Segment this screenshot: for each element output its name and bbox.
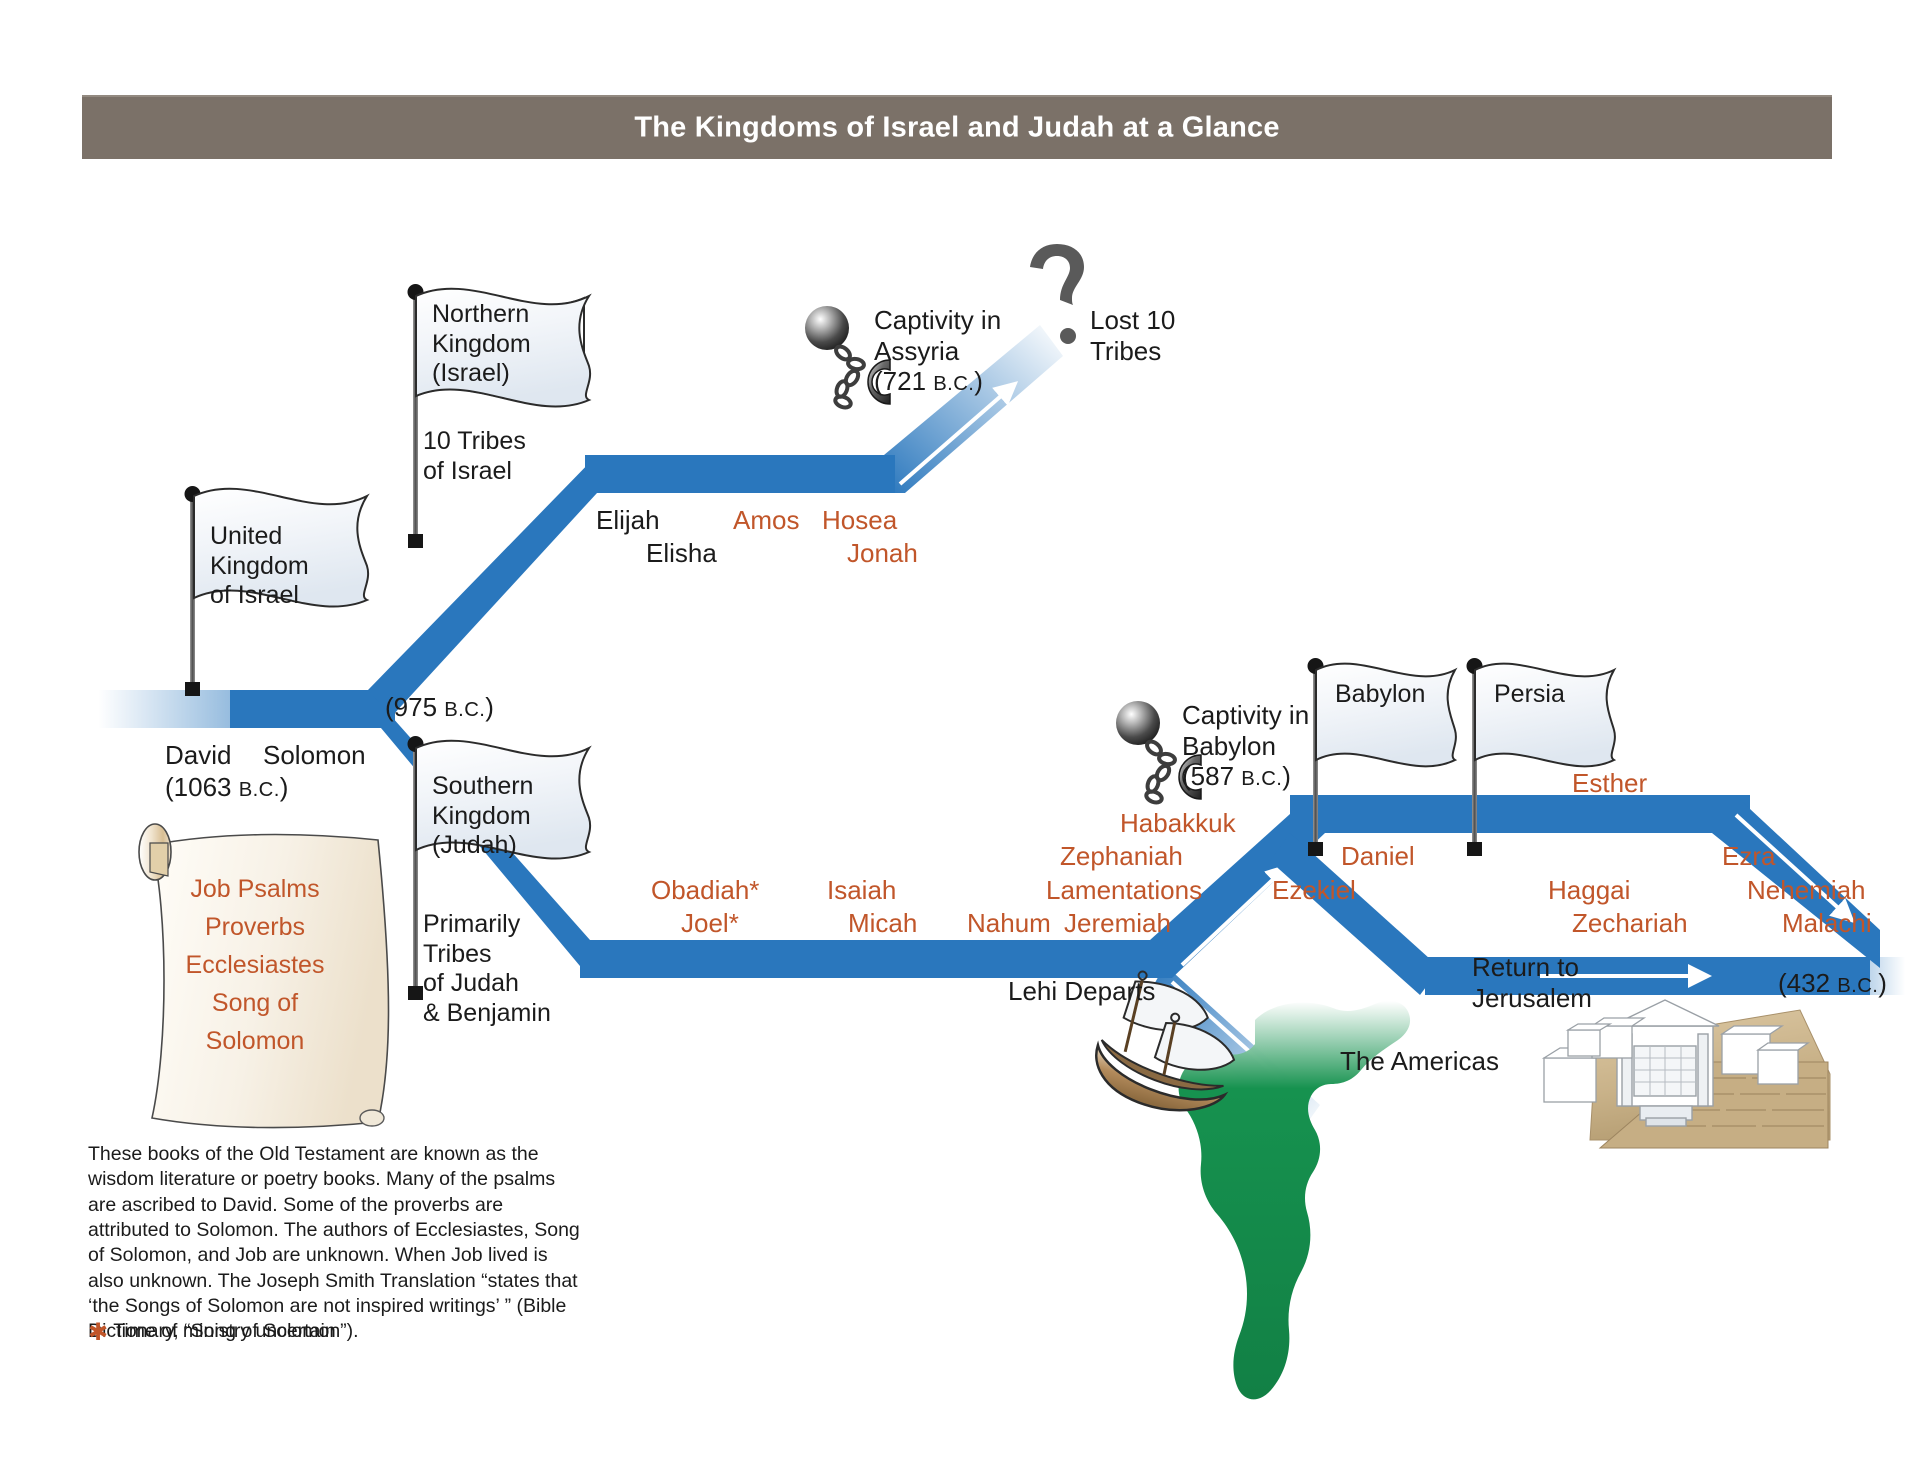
chain-link [1158, 753, 1175, 766]
king-solomon-label: Solomon [263, 740, 366, 771]
prophet-jonah: Jonah [847, 538, 918, 569]
prophet-zechariah: Zechariah [1572, 908, 1688, 939]
prophet-haggai: Haggai [1548, 875, 1630, 906]
pole-base-persia [1467, 842, 1482, 856]
prophet-hosea: Hosea [822, 505, 897, 536]
prophet-amos: Amos [733, 505, 799, 536]
flag-label-babylon: Babylon [1335, 680, 1425, 710]
prophet-lamentations: Lamentations [1046, 875, 1202, 906]
wisdom-note-paragraph: These books of the Old Testament are kno… [88, 1142, 588, 1345]
the-americas-label: The Americas [1340, 1046, 1499, 1077]
prophet-ezekiel: Ezekiel [1272, 875, 1356, 906]
flag-label-persia: Persia [1494, 680, 1565, 710]
prophet-joel: Joel* [681, 908, 739, 939]
infographic-root: The Kingdoms of Israel and Judah at a Gl… [0, 0, 1920, 1484]
wisdom-books-list: Job Psalms Proverbs Ecclesiastes Song of… [165, 870, 345, 1060]
band-north-diagonal [368, 455, 597, 728]
pole-base-united [185, 682, 200, 696]
split-date-label: (975 B.C.) [385, 692, 494, 723]
chain-link [834, 395, 852, 410]
flag-label-united: United Kingdom of Israel [210, 522, 309, 611]
captivity-babylon-label: Captivity in Babylon (587 B.C.) [1182, 700, 1309, 792]
end-date-label: (432 B.C.) [1778, 968, 1887, 999]
prophet-elijah: Elijah [596, 505, 660, 536]
prophet-nahum: Nahum [967, 908, 1051, 939]
prophet-daniel: Daniel [1341, 841, 1415, 872]
flag-label-southern: Southern Kingdom (Judah) [432, 772, 533, 861]
prophet-esther: Esther [1572, 768, 1647, 799]
prophet-zephaniah: Zephaniah [1060, 841, 1183, 872]
asterisk-note: ✱ Time of ministry uncertain [88, 1320, 336, 1343]
prophet-ezra: Ezra [1722, 841, 1775, 872]
pole-base-southern [408, 986, 423, 1000]
king-david-label: David [165, 740, 231, 771]
band-north-horizontal [585, 455, 895, 493]
band-united-kingdom-solid [230, 690, 370, 728]
lost-tribes-label: Lost 10 Tribes [1090, 305, 1175, 366]
flag-label-northern: Northern Kingdom (Israel) [432, 300, 531, 389]
asterisk-note-text: Time of ministry uncertain [113, 1320, 336, 1342]
prophet-nehemiah: Nehemiah [1747, 875, 1866, 906]
northern-tribes-label: 10 Tribes of Israel [423, 427, 526, 486]
scroll-roll-bottom [360, 1110, 384, 1126]
lehi-departs-label: Lehi Departs [1008, 976, 1155, 1007]
david-date-label: (1063 B.C.) [165, 772, 288, 803]
prophet-obadiah: Obadiah* [651, 875, 759, 906]
chain-link [1145, 790, 1163, 805]
prophet-habakkuk: Habakkuk [1120, 808, 1236, 839]
jerusalem-temple-icon [1544, 1000, 1830, 1148]
band-south-horizontal [580, 940, 1165, 978]
captivity-assyria-label: Captivity in Assyria (721 B.C.) [874, 305, 1001, 397]
prophet-malachi: Malachi [1782, 908, 1872, 939]
band-captivity-plateau [1290, 795, 1750, 833]
return-jerusalem-label: Return to Jerusalem [1472, 952, 1592, 1013]
ball-icon-assyria [805, 306, 849, 350]
chain-link [847, 358, 864, 371]
prophet-micah: Micah [848, 908, 917, 939]
pole-base-northern [408, 534, 423, 548]
prophet-jeremiah: Jeremiah [1064, 908, 1171, 939]
asterisk-icon: ✱ [88, 1319, 108, 1346]
pole-base-babylon [1308, 842, 1323, 856]
ball-icon-babylon [1116, 701, 1160, 745]
southern-tribes-label: Primarily Tribes of Judah & Benjamin [423, 910, 551, 1028]
prophet-elisha: Elisha [646, 538, 717, 569]
prophet-isaiah: Isaiah [827, 875, 896, 906]
